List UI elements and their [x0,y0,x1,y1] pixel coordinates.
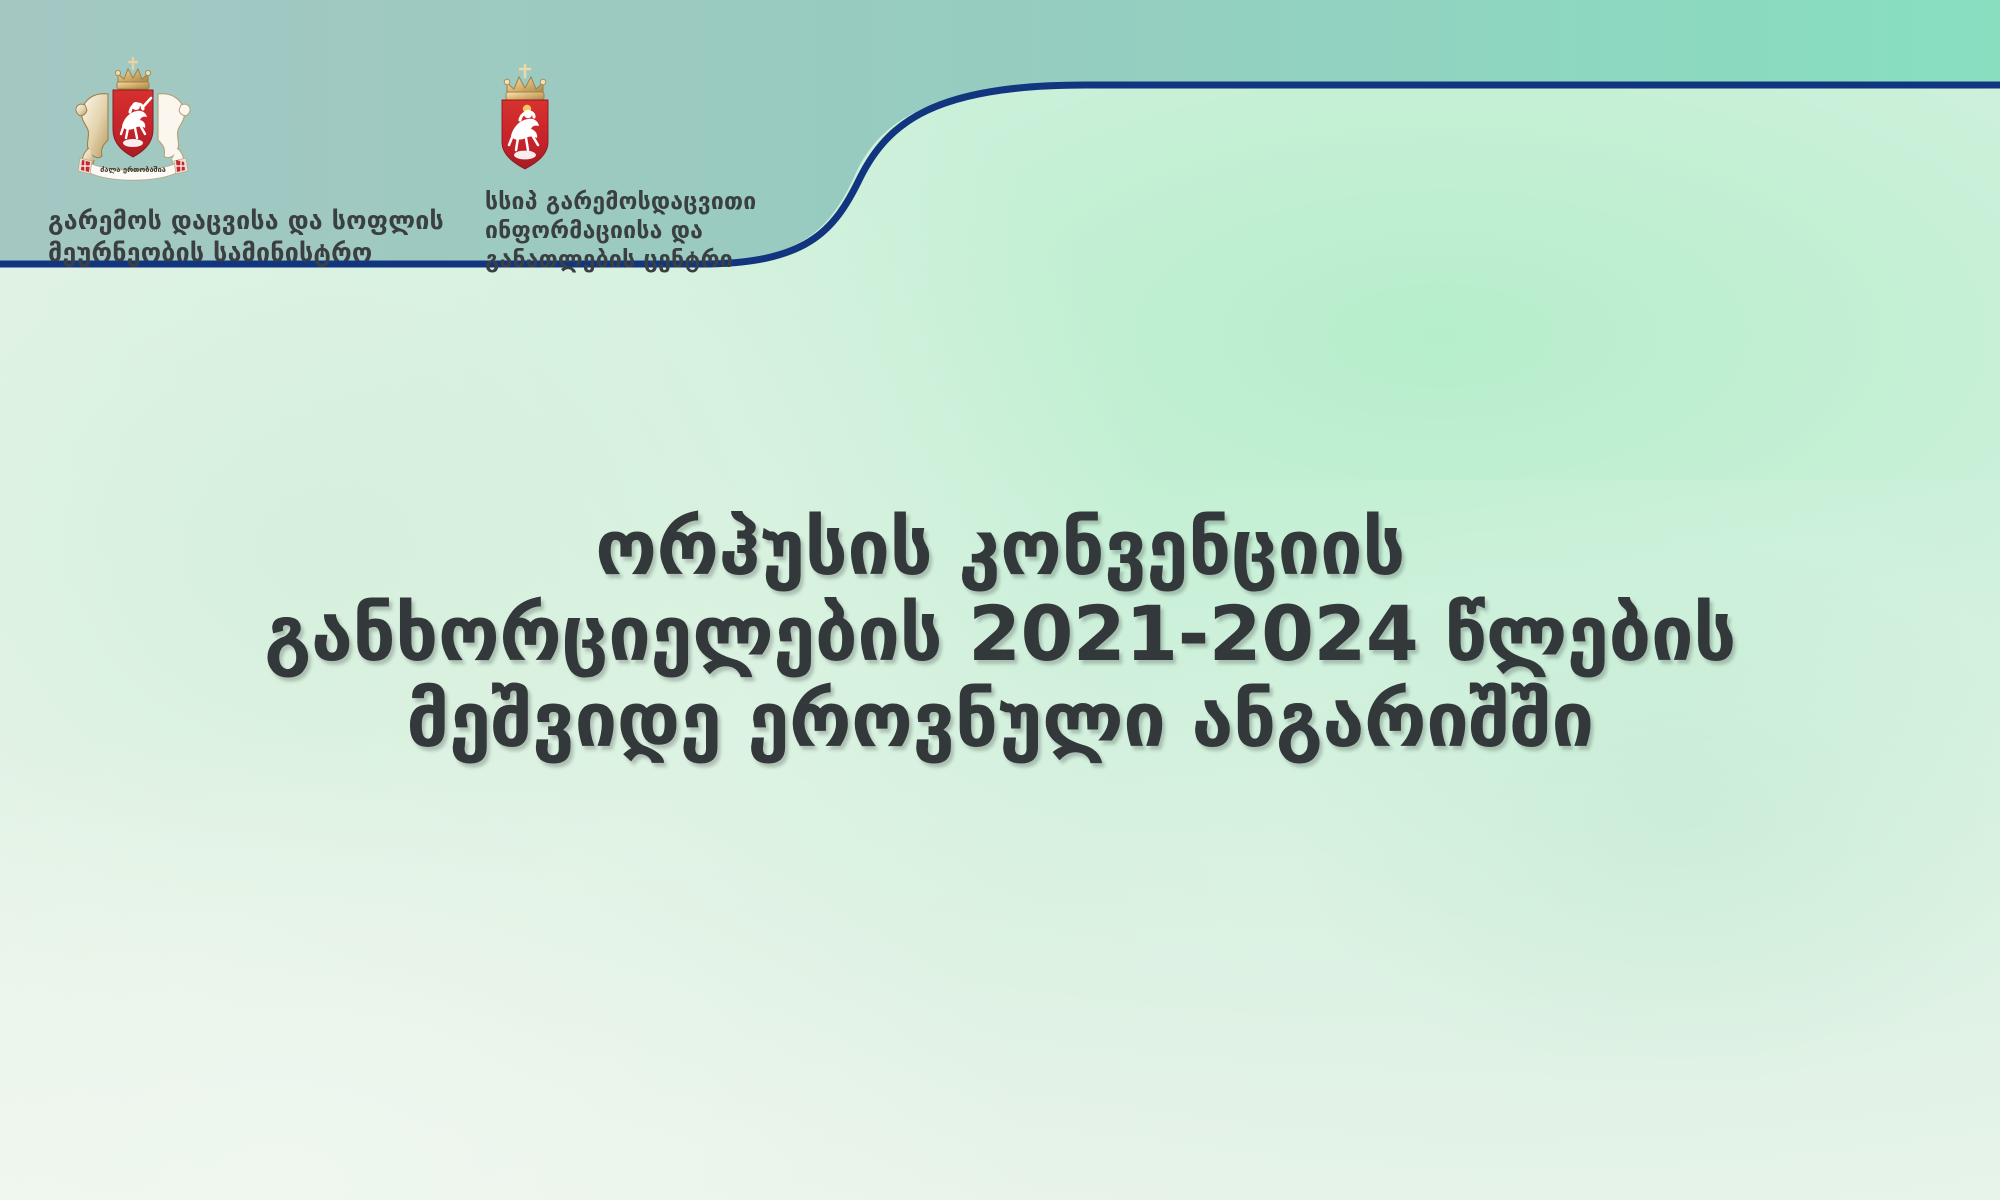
motto-ribbon: ძალა ერთობაშია [78,158,188,180]
title-line-2: განხორციელების 2021-2024 წლების [90,591,1910,677]
emblem-motto-text: ძალა ერთობაშია [100,165,166,174]
title-line-1: ორჰუსის კონვენციის [90,505,1910,591]
environmental-information-center-emblem [487,62,575,176]
shield-st-george [502,100,548,169]
title-slide: ძალა ერთობაშია გარემოს დაცვისა და სოფლის… [0,0,2000,1200]
georgia-coat-of-arms-emblem: ძალა ერთობაშია [58,52,208,191]
lion-supporter-right [158,94,190,167]
title-line-3: მეშვიდე ეროვნული ანგარიშში [90,677,1910,763]
ministry-caption: გარემოს დაცვისა და სოფლის მეურნეობის სამ… [48,205,444,268]
shield-st-george [113,90,153,157]
crown-icon [504,65,546,100]
page-title: ორჰუსის კონვენციის განხორციელების 2021-2… [0,505,2000,763]
organization-center: სსიპ გარემოსდაცვითი ინფორმაციისა და განა… [485,62,815,275]
organization-ministry: ძალა ერთობაშია გარემოს დაცვისა და სოფლის… [48,52,468,268]
lion-supporter-left [76,94,108,167]
crown-icon [115,58,150,89]
center-caption: სსიპ გარემოსდაცვითი ინფორმაციისა და განა… [485,188,756,275]
